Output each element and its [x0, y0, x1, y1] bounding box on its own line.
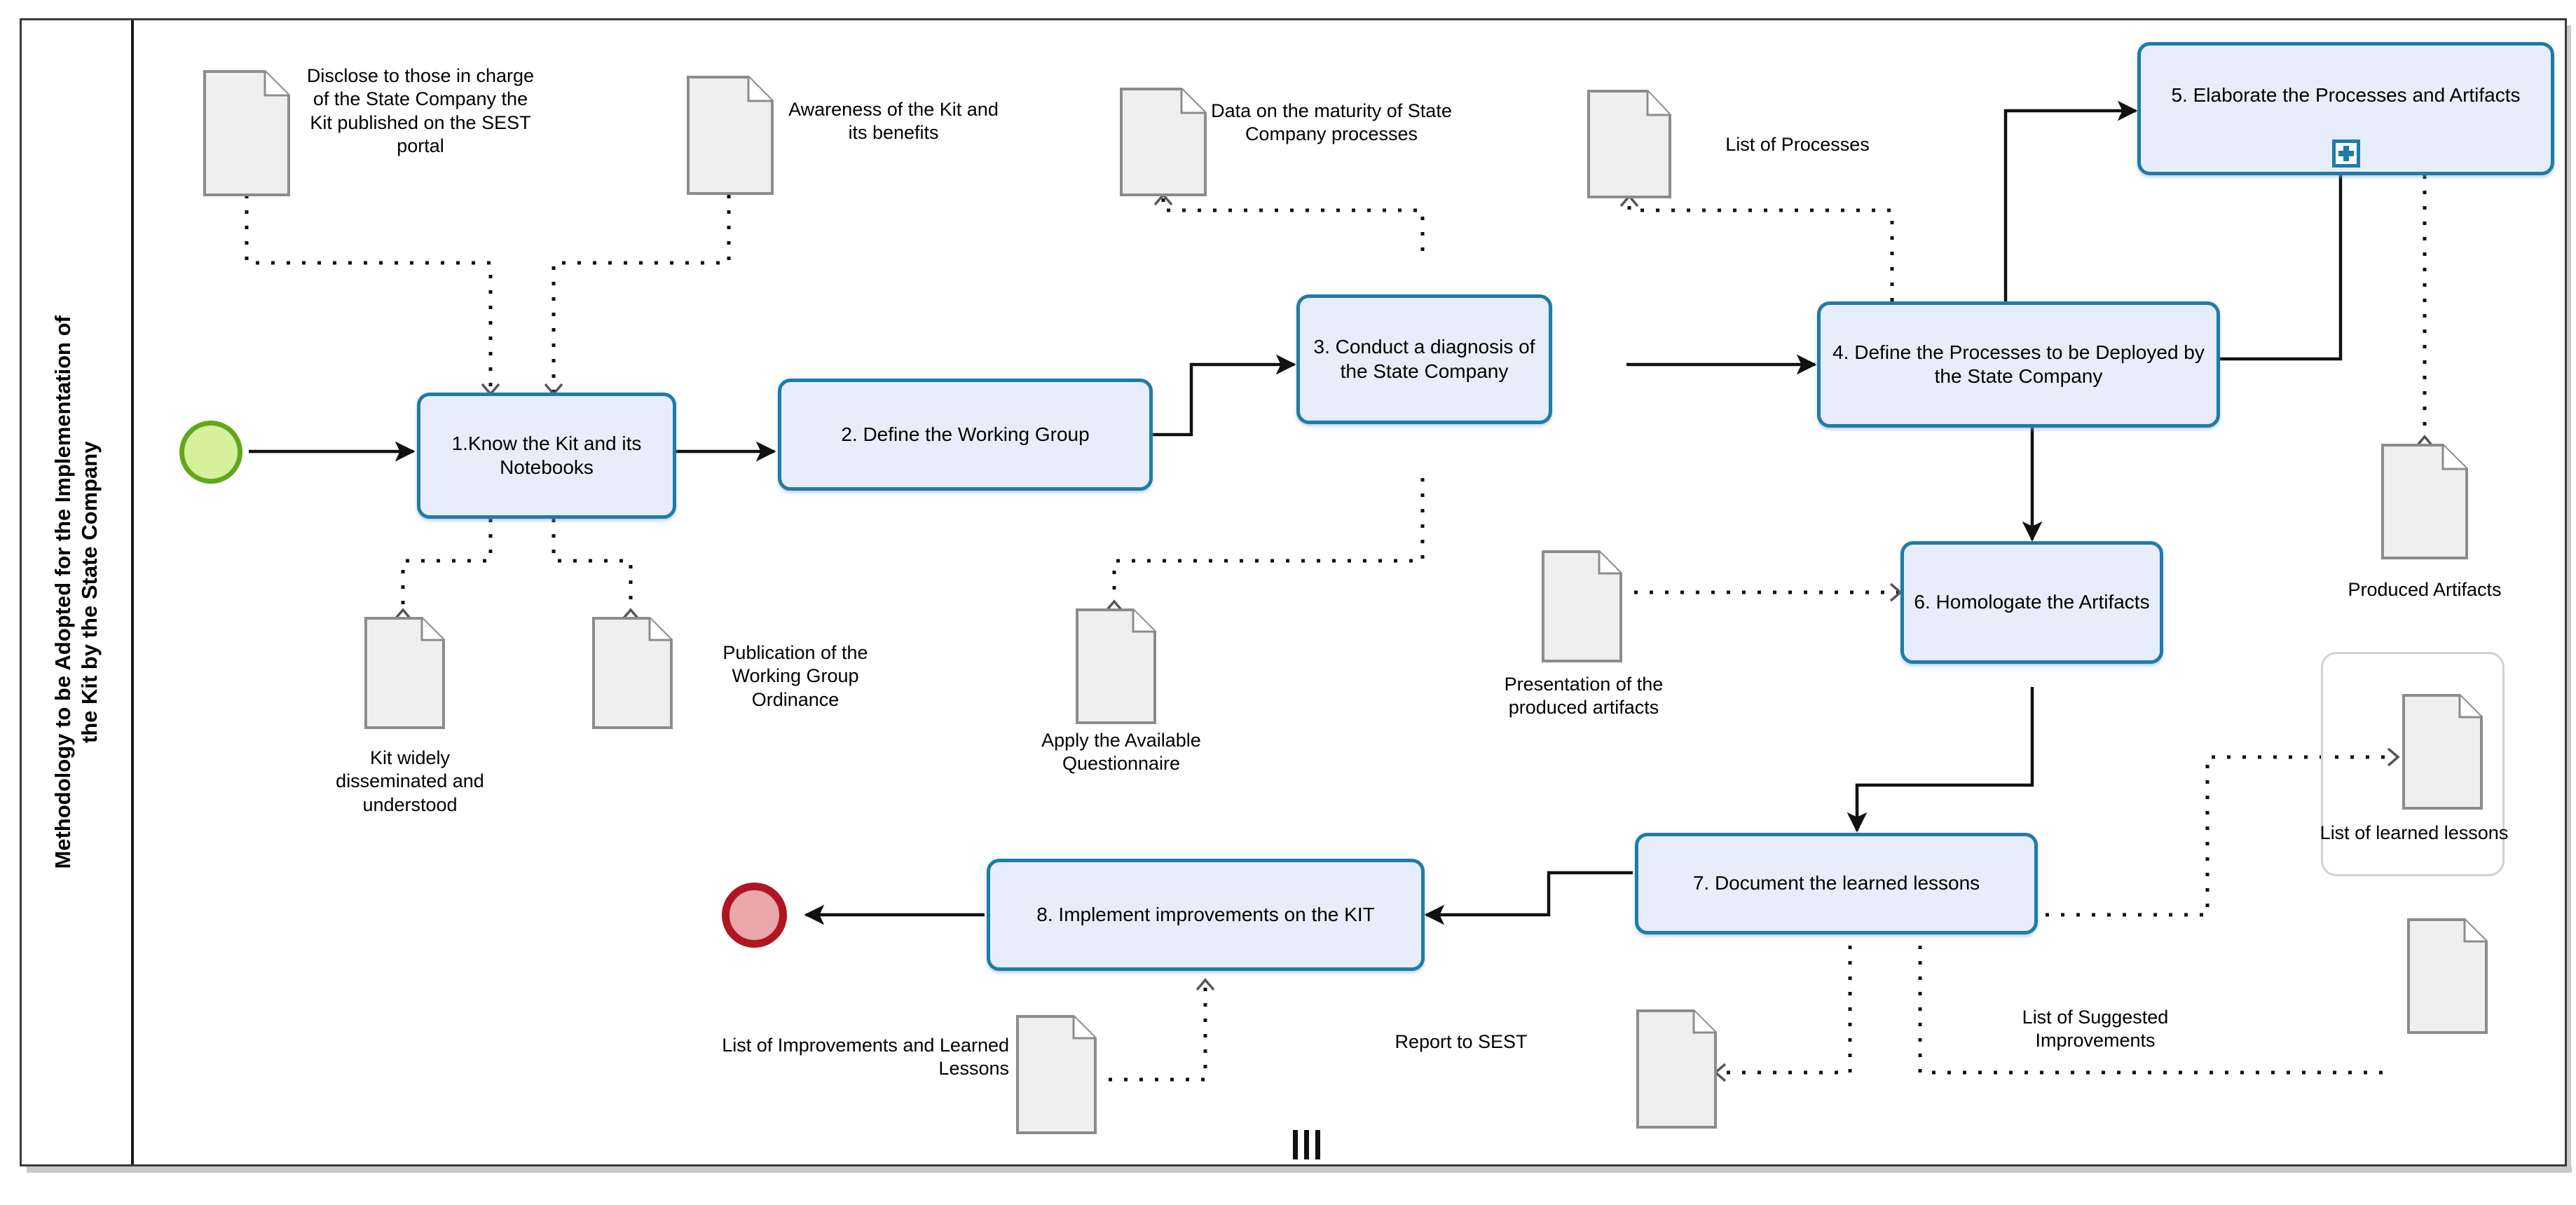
start-event[interactable] [179, 421, 242, 484]
data-object-d5-label: Kit widely disseminated and understood [319, 747, 501, 817]
document-icon [1636, 1009, 1717, 1129]
data-object-d7[interactable] [1076, 608, 1156, 724]
data-object-d4[interactable] [1587, 90, 1671, 198]
data-object-d2[interactable] [687, 76, 774, 195]
data-object-d12[interactable] [1636, 1009, 1717, 1129]
lane-title-line-1: Methodology to be Adopted for the Implem… [50, 315, 76, 869]
document-icon [2402, 694, 2483, 810]
document-icon [687, 76, 774, 195]
task-5-label: 5. Elaborate the Processes and Artifacts [2171, 83, 2520, 107]
task-3-conduct-diagnosis[interactable]: 3. Conduct a diagnosis of the State Comp… [1296, 294, 1552, 424]
data-object-d3-label: Data on the maturity of State Company pr… [1209, 100, 1454, 147]
task-6-label: 6. Homologate the Artifacts [1914, 590, 2149, 614]
document-icon [364, 617, 445, 729]
task-8-label: 8. Implement improvements on the KIT [1036, 903, 1374, 927]
data-object-d12-label: Report to SEST [1373, 1030, 1549, 1054]
plus-vertical-bar [2343, 146, 2349, 161]
task-4-label: 4. Define the Processes to be Deployed b… [1829, 341, 2208, 388]
lane-title: Methodology to be Adopted for the Implem… [50, 315, 103, 869]
task-7-document-learned-lessons[interactable]: 7. Document the learned lessons [1635, 833, 2038, 934]
task-5-elaborate-processes-artifacts[interactable]: 5. Elaborate the Processes and Artifacts [2137, 42, 2554, 175]
data-object-d11[interactable] [2407, 918, 2488, 1034]
task-7-label: 7. Document the learned lessons [1693, 871, 1980, 895]
document-icon [1120, 88, 1207, 196]
lane-title-line-2: the Kit by the State Company [76, 315, 103, 869]
document-icon [2407, 918, 2488, 1034]
data-object-d10-label: List of learned lessons [2313, 822, 2516, 845]
data-object-d13-label: List of Improvements and Learned Lessons [701, 1034, 1009, 1081]
data-object-d1-label: Disclose to those in charge of the State… [301, 64, 540, 158]
document-icon [1076, 608, 1156, 724]
mi-bar-2 [1304, 1130, 1309, 1159]
data-object-d9[interactable] [2381, 444, 2469, 559]
bpmn-diagram-canvas: Methodology to be Adopted for the Implem… [0, 0, 2576, 1205]
document-icon [1542, 550, 1622, 662]
data-object-d11-label: List of Suggested Improvements [1983, 1006, 2207, 1053]
data-object-d9-label: Produced Artifacts [2320, 578, 2530, 601]
end-event[interactable] [722, 883, 787, 948]
document-icon [203, 70, 290, 196]
data-object-d6-label: Publication of the Working Group Ordinan… [694, 641, 897, 712]
data-object-d2-label: Awareness of the Kit and its benefits [778, 98, 1009, 145]
task-1-label: 1.Know the Kit and its Notebooks [429, 432, 664, 479]
document-icon [1587, 90, 1671, 198]
data-object-d8[interactable] [1542, 550, 1622, 662]
task-6-homologate-artifacts[interactable]: 6. Homologate the Artifacts [1900, 541, 2163, 664]
process-pool [20, 18, 2567, 1166]
data-object-d4-label: List of Processes [1678, 133, 1917, 156]
data-object-d5[interactable] [364, 617, 445, 729]
data-object-d10[interactable] [2402, 694, 2483, 810]
data-object-d13[interactable] [1016, 1015, 1097, 1134]
task-8-implement-improvements[interactable]: 8. Implement improvements on the KIT [987, 859, 1425, 971]
task-2-label: 2. Define the Working Group [841, 423, 1089, 447]
lane-header: Methodology to be Adopted for the Implem… [22, 20, 134, 1164]
document-icon [592, 617, 673, 729]
task-4-define-processes[interactable]: 4. Define the Processes to be Deployed b… [1817, 301, 2220, 428]
task-1-know-the-kit[interactable]: 1.Know the Kit and its Notebooks [417, 393, 676, 519]
mi-bar-1 [1293, 1130, 1298, 1159]
data-object-d3[interactable] [1120, 88, 1207, 196]
data-object-d1[interactable] [203, 70, 290, 196]
data-object-d8-label: Presentation of the produced artifacts [1475, 673, 1692, 720]
data-object-d7-label: Apply the Available Questionnaire [1020, 729, 1223, 776]
document-icon [1016, 1015, 1097, 1134]
subprocess-plus-icon [2332, 139, 2360, 168]
task-3-label: 3. Conduct a diagnosis of the State Comp… [1308, 335, 1540, 383]
document-icon [2381, 444, 2469, 559]
pool-shadow [27, 1166, 2572, 1173]
task-2-define-working-group[interactable]: 2. Define the Working Group [778, 379, 1153, 491]
multi-instance-parallel-marker [1293, 1130, 1320, 1159]
mi-bar-3 [1315, 1130, 1320, 1159]
data-object-d6[interactable] [592, 617, 673, 729]
